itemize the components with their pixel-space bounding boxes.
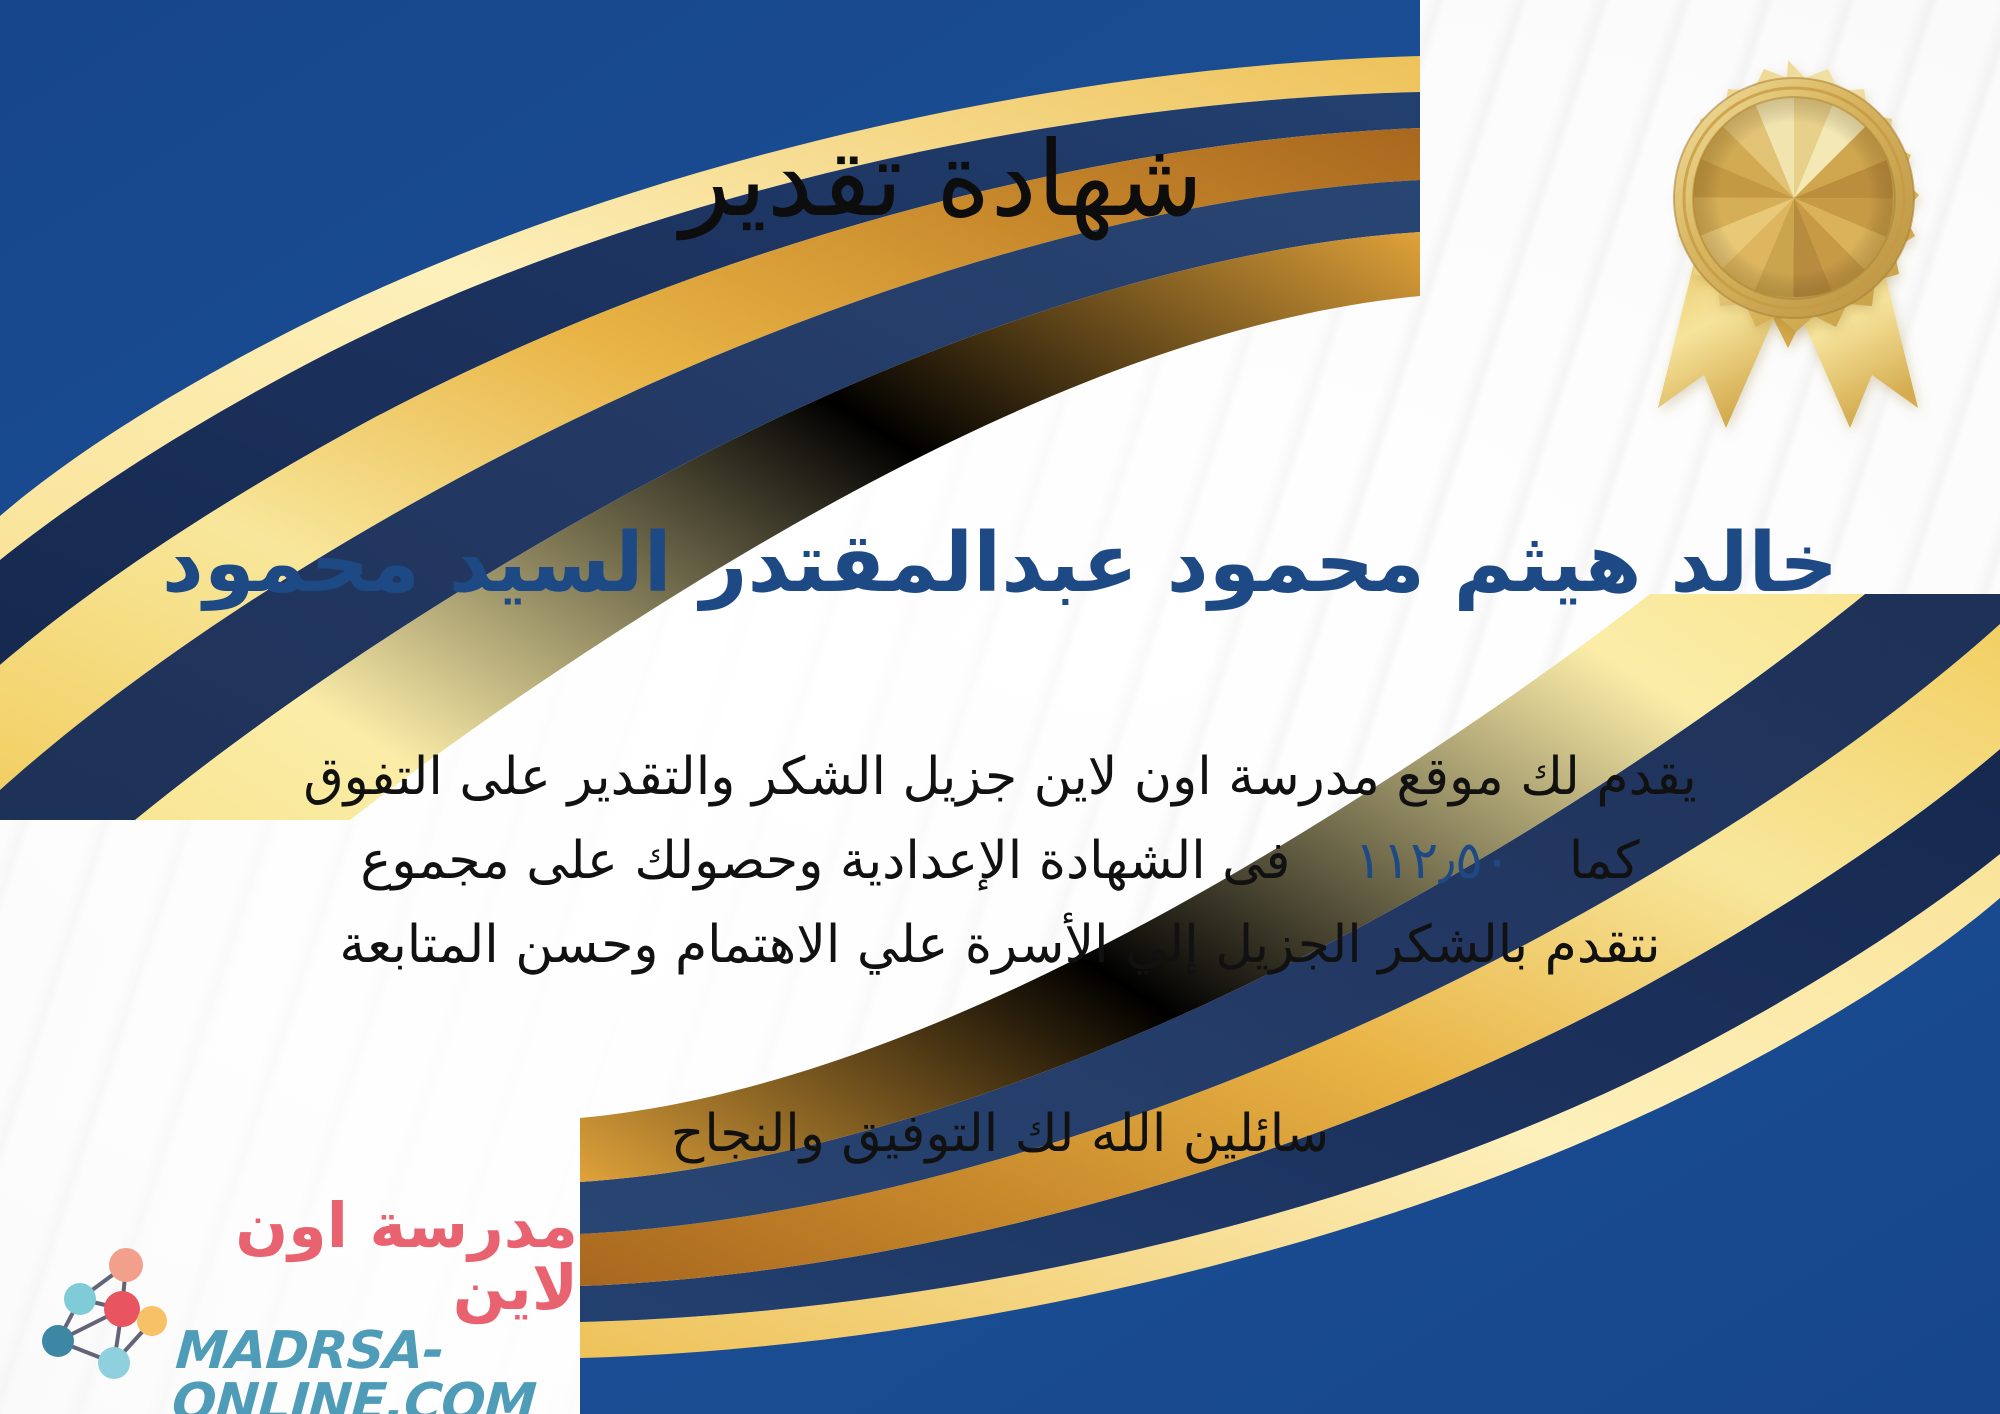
body-line-1: يقدم لك موقع مدرسة اون لاين جزيل الشكر و… <box>150 735 1850 819</box>
body-line-2-prefix: فى الشهادة الإعدادية وحصولك على مجموع <box>360 819 1290 903</box>
page-title: شهادة تقدير <box>0 120 1942 240</box>
total-score-value: ١١٢٫٥٠ <box>1354 819 1511 903</box>
certificate-body: يقدم لك موقع مدرسة اون لاين جزيل الشكر و… <box>150 735 1850 988</box>
brand-text: مدرسة اون لاين MADRSA-ONLINE.COM <box>174 1195 578 1414</box>
network-nodes-logo-icon <box>18 1237 168 1387</box>
body-line-2: كما ١١٢٫٥٠ فى الشهادة الإعدادية وحصولك ع… <box>150 819 1850 903</box>
recipient-name: خالد هيثم محمود عبدالمقتدر السيد محمود <box>0 515 2000 613</box>
body-line-3: نتقدم بالشكر الجزيل إلي الأسرة علي الاهت… <box>150 903 1850 987</box>
certificate-canvas: شهادة تقدير خالد هيثم محمود عبدالمقتدر ا… <box>0 0 2000 1414</box>
brand-name-arabic: مدرسة اون لاين <box>174 1195 578 1319</box>
closing-line: سائلين الله لك التوفيق والنجاح <box>0 1095 2000 1173</box>
brand-logo: مدرسة اون لاين MADRSA-ONLINE.COM <box>18 1232 578 1392</box>
body-line-2-suffix: كما <box>1569 819 1640 903</box>
brand-website: MADRSA-ONLINE.COM <box>170 1325 581 1414</box>
